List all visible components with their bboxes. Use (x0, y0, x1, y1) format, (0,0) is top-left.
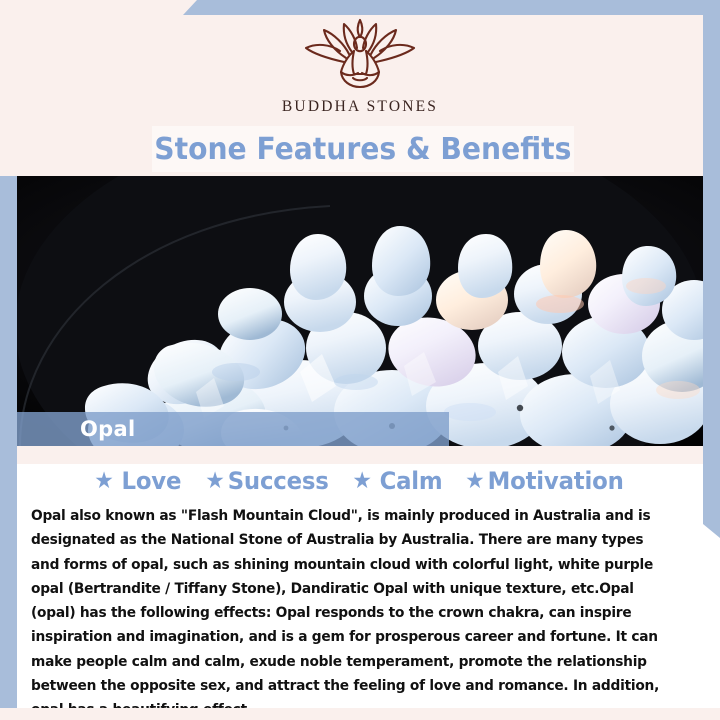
feature-label: Success (228, 467, 329, 495)
opal-stones-illustration (0, 176, 720, 446)
header-top-accent-band (183, 0, 720, 15)
body-bottom-divider (0, 708, 720, 720)
stone-description: Opal also known as "Flash Mountain Cloud… (31, 504, 675, 720)
body-top-divider (17, 446, 703, 464)
page-title: Stone Features & Benefits (154, 132, 571, 167)
lotus-meditation-icon (296, 18, 424, 94)
feature-label: Calm (379, 467, 442, 495)
feature-label: Love (122, 467, 182, 495)
feature-item-motivation: ★ Motivation (465, 467, 623, 495)
feature-keywords-row: ★ Love ★ Success ★ Calm ★ Motivation (0, 467, 720, 495)
feature-item-love: ★ Love (95, 467, 182, 495)
stone-photo: Opal (0, 176, 720, 446)
star-icon: ★ (352, 470, 372, 493)
stone-name: Opal (80, 417, 135, 441)
photo-left-accent-strip (0, 176, 17, 446)
brand-name: BUDDHA STONES (282, 98, 438, 116)
poster-body: ★ Love ★ Success ★ Calm ★ Motivation Opa… (0, 446, 720, 720)
star-icon: ★ (465, 470, 485, 493)
feature-item-success: ★ Success (205, 467, 328, 495)
poster-title-band: Stone Features & Benefits (152, 126, 574, 172)
poster-header: BUDDHA STONES Stone Features & Benefits (0, 0, 720, 176)
stone-name-bar: Opal (17, 412, 449, 446)
star-icon: ★ (95, 470, 115, 493)
feature-item-calm: ★ Calm (352, 467, 442, 495)
photo-right-accent-strip (703, 176, 720, 446)
star-icon: ★ (205, 470, 225, 493)
brand-logo-block: BUDDHA STONES (0, 18, 720, 116)
feature-label: Motivation (487, 467, 623, 495)
stone-info-poster: BUDDHA STONES Stone Features & Benefits (0, 0, 720, 720)
